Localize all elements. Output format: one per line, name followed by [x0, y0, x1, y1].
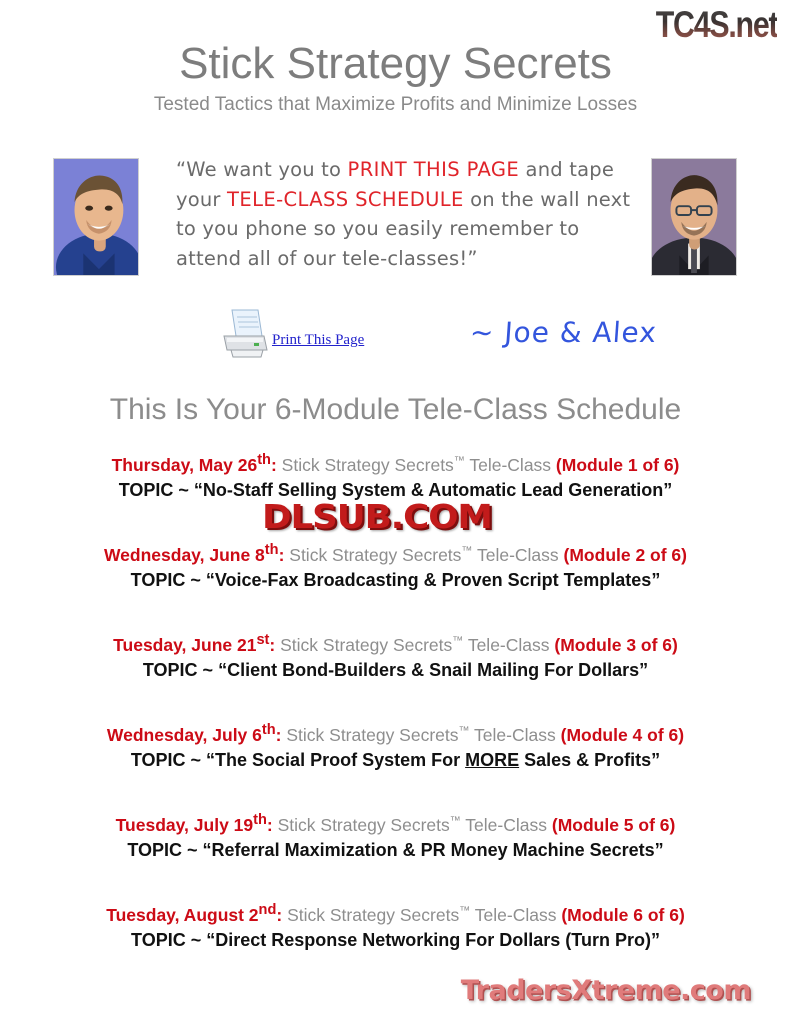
- printer-icon[interactable]: [218, 308, 270, 358]
- module-date-ordinal: st: [256, 632, 269, 648]
- print-this-page-link[interactable]: Print This Page: [272, 332, 364, 349]
- module-topic-line: TOPIC ~ “No-Staff Selling System & Autom…: [0, 478, 791, 502]
- module-teleclass-label: Tele-Class: [470, 725, 561, 745]
- module-topic-text: “No-Staff Selling System & Automatic Lea…: [194, 480, 672, 500]
- quote-open: “We want you to: [176, 158, 348, 181]
- trademark-icon: ™: [459, 905, 470, 917]
- page-subtitle: Tested Tactics that Maximize Profits and…: [0, 92, 791, 118]
- module-teleclass-label: Tele-Class: [463, 635, 554, 655]
- module-topic-prefix: TOPIC ~: [127, 840, 202, 860]
- joe-portrait-icon: [54, 159, 138, 275]
- signature-joe-and-alex: ~ Joe & Alex: [469, 316, 658, 349]
- module-topic-line: TOPIC ~ “Direct Response Networking For …: [0, 928, 791, 952]
- module-topic-text: “Referral Maximization & PR Money Machin…: [203, 840, 664, 860]
- module-topic-prefix: TOPIC ~: [131, 570, 206, 590]
- module-date: Wednesday, June 8: [104, 545, 265, 565]
- module-product-name: Stick Strategy Secrets™ Tele-Class: [278, 815, 552, 835]
- module-topic-line: TOPIC ~ “The Social Proof System For MOR…: [0, 748, 791, 772]
- module-topic-text: “Direct Response Networking For Dollars …: [206, 930, 660, 950]
- module-product-name: Stick Strategy Secrets™ Tele-Class: [280, 635, 554, 655]
- module-date: Tuesday, July 19: [116, 815, 253, 835]
- module-date: Tuesday, August 2: [106, 905, 258, 925]
- masthead: Stick Strategy Secrets Tested Tactics th…: [0, 38, 791, 118]
- trademark-icon: ™: [461, 545, 472, 557]
- module-topic-prefix: TOPIC ~: [143, 660, 218, 680]
- module-date-ordinal: th: [262, 722, 276, 738]
- module-row: Thursday, May 26th: Stick Strategy Secre…: [0, 449, 791, 539]
- module-date-ordinal: th: [265, 542, 279, 558]
- module-number-badge: (Module 6 of 6): [561, 905, 684, 925]
- module-date-line: Tuesday, June 21st: Stick Strategy Secre…: [0, 629, 791, 657]
- module-date-line: Wednesday, July 6th: Stick Strategy Secr…: [0, 719, 791, 747]
- module-product-label: Stick Strategy Secrets: [282, 455, 454, 475]
- module-topic-line: TOPIC ~ “Referral Maximization & PR Mone…: [0, 838, 791, 862]
- module-number-badge: (Module 5 of 6): [552, 815, 675, 835]
- module-teleclass-label: Tele-Class: [461, 815, 552, 835]
- printer-icon-svg: [218, 308, 270, 358]
- module-topic-text: “Voice-Fax Broadcasting & Proven Script …: [206, 570, 660, 590]
- module-date: Wednesday, July 6: [107, 725, 262, 745]
- module-row: Wednesday, July 6th: Stick Strategy Secr…: [0, 719, 791, 809]
- tradersxtreme-footer-logo: TradersXtreme.com: [461, 975, 751, 1006]
- module-product-name: Stick Strategy Secrets™ Tele-Class: [289, 545, 563, 565]
- module-teleclass-label: Tele-Class: [472, 545, 563, 565]
- trademark-icon: ™: [454, 455, 465, 467]
- module-topic-line: TOPIC ~ “Voice-Fax Broadcasting & Proven…: [0, 568, 791, 592]
- trademark-icon: ™: [452, 635, 463, 647]
- module-topic-prefix: TOPIC ~: [119, 480, 194, 500]
- avatar-alex: [651, 158, 737, 276]
- module-topic-line: TOPIC ~ “Client Bond-Builders & Snail Ma…: [0, 658, 791, 682]
- module-teleclass-label: Tele-Class: [470, 905, 561, 925]
- module-date-colon: :: [271, 455, 282, 475]
- avatar-joe: [53, 158, 139, 276]
- module-topic-prefix: TOPIC ~: [131, 930, 206, 950]
- module-date-ordinal: th: [253, 812, 267, 828]
- module-date-colon: :: [267, 815, 278, 835]
- page-title: Stick Strategy Secrets: [0, 38, 791, 90]
- trademark-icon: ™: [450, 815, 461, 827]
- module-topic-prefix: TOPIC ~: [131, 750, 206, 770]
- module-row: Tuesday, June 21st: Stick Strategy Secre…: [0, 629, 791, 719]
- module-topic-pre: “The Social Proof System For: [206, 750, 465, 770]
- module-product-label: Stick Strategy Secrets: [287, 905, 459, 925]
- module-date-ordinal: nd: [259, 902, 277, 918]
- alex-portrait-icon: [652, 159, 736, 275]
- module-date-line: Wednesday, June 8th: Stick Strategy Secr…: [0, 539, 791, 567]
- schedule-heading: This Is Your 6-Module Tele-Class Schedul…: [0, 392, 791, 428]
- module-date: Thursday, May 26: [112, 455, 258, 475]
- module-date-colon: :: [269, 635, 280, 655]
- module-number-badge: (Module 3 of 6): [554, 635, 677, 655]
- module-date-colon: :: [279, 545, 290, 565]
- module-product-label: Stick Strategy Secrets: [280, 635, 452, 655]
- module-product-name: Stick Strategy Secrets™ Tele-Class: [282, 455, 556, 475]
- module-product-label: Stick Strategy Secrets: [289, 545, 461, 565]
- module-product-label: Stick Strategy Secrets: [286, 725, 458, 745]
- module-date-colon: :: [276, 905, 287, 925]
- module-number-badge: (Module 1 of 6): [556, 455, 679, 475]
- flyer-page: TC4S.net Stick Strategy Secrets Tested T…: [0, 0, 791, 1024]
- module-teleclass-label: Tele-Class: [465, 455, 556, 475]
- module-row: Wednesday, June 8th: Stick Strategy Secr…: [0, 539, 791, 629]
- module-date-line: Thursday, May 26th: Stick Strategy Secre…: [0, 449, 791, 477]
- module-product-label: Stick Strategy Secrets: [278, 815, 450, 835]
- module-product-name: Stick Strategy Secrets™ Tele-Class: [286, 725, 560, 745]
- module-number-badge: (Module 4 of 6): [561, 725, 684, 745]
- module-date-line: Tuesday, July 19th: Stick Strategy Secre…: [0, 809, 791, 837]
- module-product-name: Stick Strategy Secrets™ Tele-Class: [287, 905, 561, 925]
- module-date-line: Tuesday, August 2nd: Stick Strategy Secr…: [0, 899, 791, 927]
- module-topic-emphasis: MORE: [465, 750, 519, 770]
- print-row: Print This Page ~ Joe & Alex: [0, 308, 791, 366]
- trademark-icon: ™: [459, 725, 470, 737]
- module-list: Thursday, May 26th: Stick Strategy Secre…: [0, 449, 791, 989]
- quote-highlight-schedule: TELE-CLASS SCHEDULE: [227, 188, 464, 211]
- quote-text: “We want you to PRINT THIS PAGE and tape…: [176, 155, 638, 273]
- module-row: Tuesday, July 19th: Stick Strategy Secre…: [0, 809, 791, 899]
- module-topic-text: “Client Bond-Builders & Snail Mailing Fo…: [218, 660, 648, 680]
- module-date: Tuesday, June 21: [113, 635, 256, 655]
- quote-section: “We want you to PRINT THIS PAGE and tape…: [0, 158, 791, 298]
- module-date-ordinal: th: [257, 452, 271, 468]
- module-topic-post: Sales & Profits”: [519, 750, 660, 770]
- quote-highlight-print: PRINT THIS PAGE: [348, 158, 520, 181]
- module-number-badge: (Module 2 of 6): [564, 545, 687, 565]
- module-date-colon: :: [276, 725, 287, 745]
